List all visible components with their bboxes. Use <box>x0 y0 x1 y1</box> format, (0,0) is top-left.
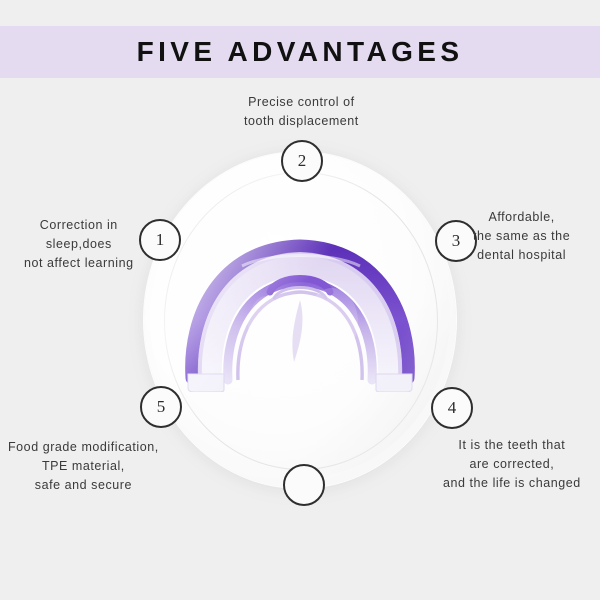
advantage-marker-4-label: 4 <box>448 398 457 418</box>
advantage-caption-2-line-1: Precise control of <box>244 93 359 112</box>
advantage-marker-5-label: 5 <box>157 397 166 417</box>
page-title: FIVE ADVANTAGES <box>137 36 464 68</box>
tray-tip-left <box>188 374 224 392</box>
advantage-marker-4[interactable]: 4 <box>431 387 473 429</box>
advantage-marker-1[interactable]: 1 <box>139 219 181 261</box>
advantage-caption-3-line-3: dental hospital <box>473 246 570 265</box>
advantage-marker-2-label: 2 <box>298 151 307 171</box>
advantage-caption-3: Affordable, the same as the dental hospi… <box>473 208 570 265</box>
tray-gloss-left <box>248 296 284 356</box>
advantage-caption-1-line-2: sleep,does <box>24 235 134 254</box>
advantage-caption-3-line-1: Affordable, <box>473 208 570 227</box>
advantage-caption-5-line-2: TPE material, <box>8 457 159 476</box>
product-image-mouthguard <box>182 222 418 392</box>
tray-gloss-right <box>306 288 358 356</box>
advantage-caption-2-line-2: tooth displacement <box>244 112 359 131</box>
advantage-caption-5-line-1: Food grade modification, <box>8 438 159 457</box>
advantage-marker-5[interactable]: 5 <box>140 386 182 428</box>
advantage-marker-empty[interactable] <box>283 464 325 506</box>
tray-center-ridge <box>292 300 302 362</box>
advantage-caption-1: Correction in sleep,does not affect lear… <box>24 216 134 273</box>
advantage-caption-1-line-3: not affect learning <box>24 254 134 273</box>
advantage-caption-3-line-2: the same as the <box>473 227 570 246</box>
advantage-marker-1-label: 1 <box>156 230 165 250</box>
advantage-caption-4-line-2: are corrected, <box>443 455 581 474</box>
advantage-caption-4-line-1: It is the teeth that <box>443 436 581 455</box>
advantage-marker-3-label: 3 <box>452 231 461 251</box>
advantage-caption-2: Precise control of tooth displacement <box>244 93 359 131</box>
tray-tip-right <box>376 374 412 392</box>
advantage-marker-2[interactable]: 2 <box>281 140 323 182</box>
advantage-caption-5-line-3: safe and secure <box>8 476 159 495</box>
advantage-caption-5: Food grade modification, TPE material, s… <box>8 438 159 495</box>
advantage-caption-4-line-3: and the life is changed <box>443 474 581 493</box>
advantage-caption-1-line-1: Correction in <box>24 216 134 235</box>
advantage-caption-4: It is the teeth that are corrected, and … <box>443 436 581 493</box>
header-band: FIVE ADVANTAGES <box>0 26 600 78</box>
advantage-marker-3[interactable]: 3 <box>435 220 477 262</box>
infographic-page: FIVE ADVANTAGES <box>0 0 600 600</box>
